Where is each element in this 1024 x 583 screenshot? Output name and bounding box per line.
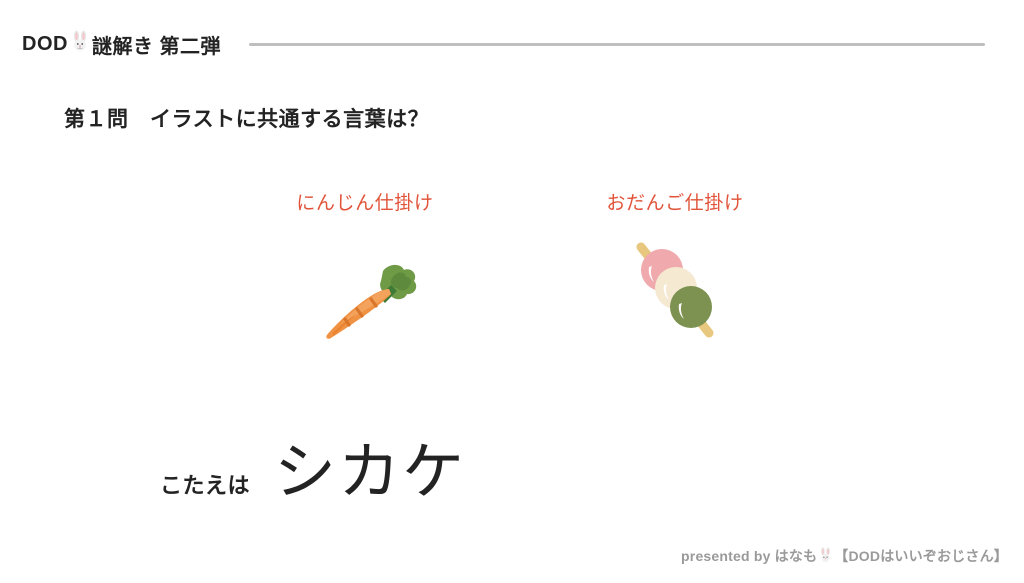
rabbit-face-icon [818, 547, 833, 566]
answer-row: こたえは シカケ [160, 442, 466, 504]
answer-label: こたえは [160, 468, 250, 500]
header-title-suffix: 謎解き 第二弾 [92, 30, 221, 59]
footer-presented-by: presented by はなも [681, 546, 817, 566]
answer-value: シカケ [274, 442, 466, 504]
page-title: DOD 謎解き 第二弾 [22, 30, 221, 59]
header-title-prefix: DOD [22, 33, 68, 56]
slide-footer: presented by はなも 【DODはいいぞおじさん】 [681, 546, 1008, 566]
slide-header: DOD 謎解き 第二弾 [0, 26, 1024, 62]
dango-icon [615, 237, 735, 347]
rabbit-face-icon [70, 30, 90, 58]
footer-credit: 【DODはいいぞおじさん】 [834, 546, 1008, 566]
illustration-row: にんじん仕掛け おだんご仕掛け [250, 188, 790, 347]
illustration-item-dango: おだんご仕掛け [560, 188, 790, 347]
illustration-item-carrot: にんじん仕掛け [250, 188, 480, 347]
illustration-caption-dango: おだんご仕掛け [606, 188, 743, 215]
question-text: 第１問 イラストに共通する言葉は？ [64, 103, 429, 133]
header-divider [249, 43, 985, 46]
carrot-icon [305, 237, 425, 347]
illustration-caption-carrot: にんじん仕掛け [296, 188, 433, 215]
